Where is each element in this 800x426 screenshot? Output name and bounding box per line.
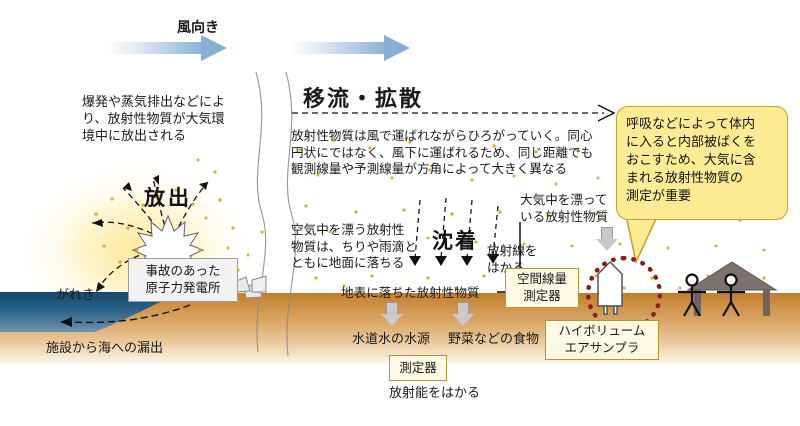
- surface-fallout-label: 地表に落ちた放射性物質: [341, 285, 480, 302]
- dose-rate-meter-box: 空間線量 測定器: [505, 268, 579, 308]
- deposition-arrowheads: [409, 254, 499, 266]
- release-title: 放出: [144, 185, 192, 213]
- debris-flag-icon: [252, 276, 266, 292]
- air-sampler-box: ハイボリューム エアサンプラ: [545, 320, 659, 360]
- npp-box: 事故のあった 原子力発電所: [128, 258, 238, 302]
- sea-leak-label: 施設から海への漏出: [46, 339, 163, 356]
- sea-leak-arrow: [60, 305, 190, 327]
- infographic-canvas: 風向き: [0, 0, 800, 426]
- down-arrow-food: [452, 302, 474, 327]
- down-arrow-water: [381, 302, 403, 327]
- advection-description: 放射性物質は風で運ばれながらひろがっていく。同心 円状にではなく、風下に運ばれる…: [291, 128, 593, 178]
- plume-curve-1: [256, 72, 266, 352]
- measuring-device-box: 測定器: [389, 355, 447, 381]
- deposition-title: 沈着: [432, 228, 478, 256]
- water-source-label: 水道水の水源: [352, 330, 430, 347]
- airborne-fall-description: 空気中を漂う放射性 物質は、ちりや雨滴と ともに地面に落ちる: [291, 222, 417, 272]
- airborne-material-label: 大気中を漂って いる放射性物質: [520, 192, 608, 225]
- release-description: 爆発や蒸気排出などによ り、放射性物質が大気環 境中に放出される: [82, 93, 225, 144]
- debris-label: がれき: [56, 286, 95, 303]
- inhalation-callout: 呼吸などによって体内 に入ると内部被ばくを おこすため、大気に含 まれる放射性物…: [616, 106, 788, 220]
- advection-title: 移流・拡散: [303, 84, 423, 113]
- food-label: 野菜などの食物: [448, 330, 539, 347]
- measure-radioactivity-label: 放射能をはかる: [389, 384, 480, 401]
- plume-curve-2: [286, 72, 296, 356]
- down-arrow-sampler: [596, 227, 618, 252]
